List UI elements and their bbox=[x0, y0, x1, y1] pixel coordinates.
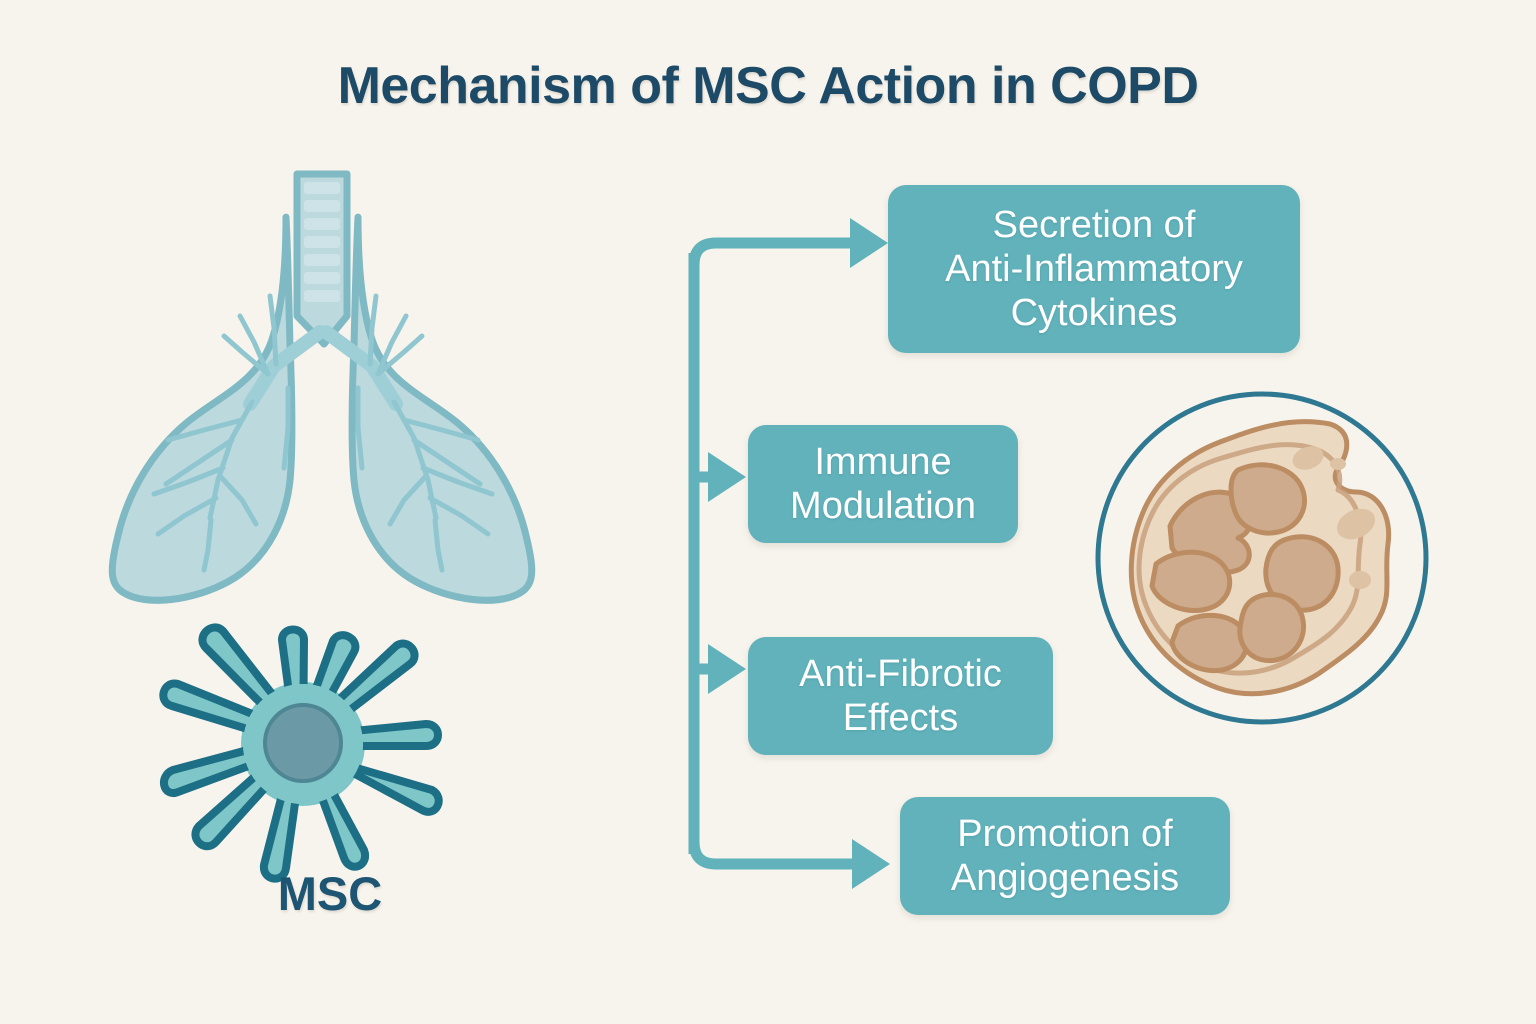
node-line: Angiogenesis bbox=[951, 856, 1179, 900]
node-immune-modulation[interactable]: Immune Modulation bbox=[748, 425, 1018, 543]
node-line: Cytokines bbox=[1011, 291, 1178, 335]
node-line: Anti-Fibrotic bbox=[799, 652, 1002, 696]
diagram-canvas: Mechanism of MSC Action in COPD bbox=[0, 0, 1536, 1024]
node-line: Secretion of bbox=[993, 203, 1196, 247]
node-promotion-of-angiogenesis[interactable]: Promotion of Angiogenesis bbox=[900, 797, 1230, 915]
node-line: Modulation bbox=[790, 484, 976, 528]
node-line: Promotion of bbox=[957, 812, 1172, 856]
node-anti-fibrotic-effects[interactable]: Anti-Fibrotic Effects bbox=[748, 637, 1053, 755]
arrowhead bbox=[708, 218, 890, 889]
node-line: Effects bbox=[843, 696, 958, 740]
node-secretion-of-anti-inflammatory-cytokines[interactable]: Secretion of Anti-Inflammatory Cytokines bbox=[888, 185, 1300, 353]
node-line: Anti-Inflammatory bbox=[945, 247, 1243, 291]
node-line: Immune bbox=[814, 440, 951, 484]
